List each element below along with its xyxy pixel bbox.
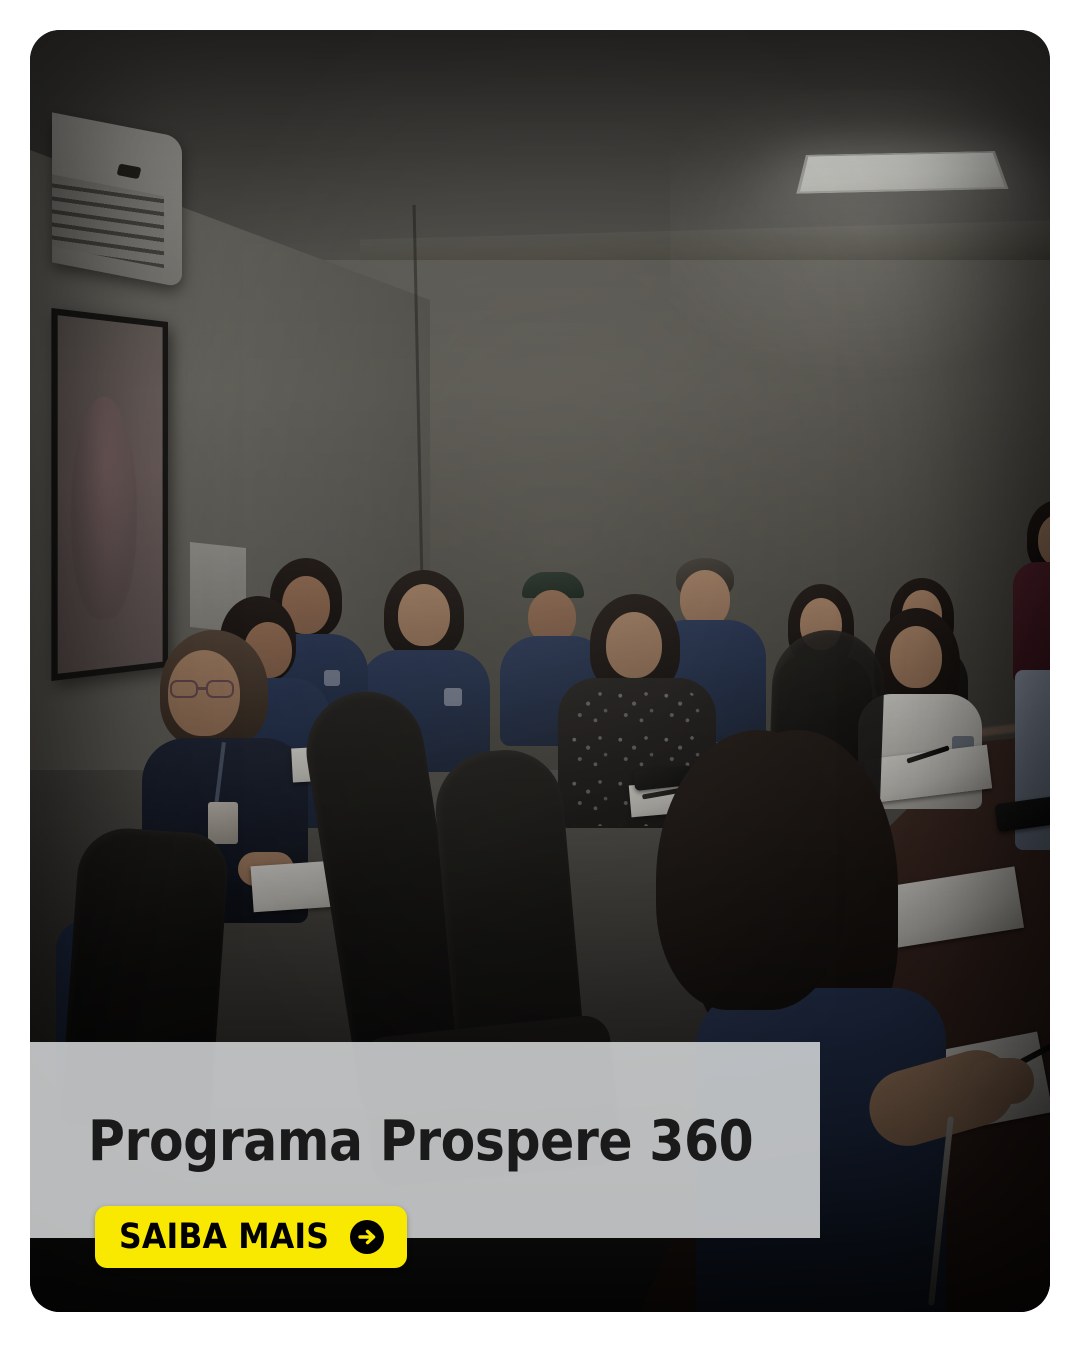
saiba-mais-button[interactable]: SAIBA MAIS (95, 1206, 407, 1268)
arrow-right-circle-icon (349, 1219, 385, 1255)
glasses-icon (170, 680, 236, 698)
hair (656, 730, 846, 1010)
air-conditioner-icon (52, 112, 182, 287)
ceiling-light-panel (796, 151, 1008, 194)
head (398, 584, 450, 646)
framed-picture-art (71, 395, 137, 623)
page-title: Programa Prospere 360 (88, 1114, 753, 1170)
air-conditioner-vents (52, 174, 164, 268)
head (606, 612, 662, 678)
framed-picture (51, 308, 168, 681)
head (890, 626, 942, 688)
card-surface: Programa Prospere 360 SAIBA MAIS (30, 30, 1050, 1312)
air-conditioner-display (117, 163, 142, 179)
hand (970, 1058, 1034, 1104)
torso (1013, 562, 1050, 682)
polo-logo (444, 688, 462, 706)
saiba-mais-label: SAIBA MAIS (119, 1220, 329, 1255)
participant-foreground-head (656, 730, 866, 1030)
badge (208, 802, 238, 844)
content-card[interactable]: Programa Prospere 360 SAIBA MAIS (30, 30, 1050, 1312)
